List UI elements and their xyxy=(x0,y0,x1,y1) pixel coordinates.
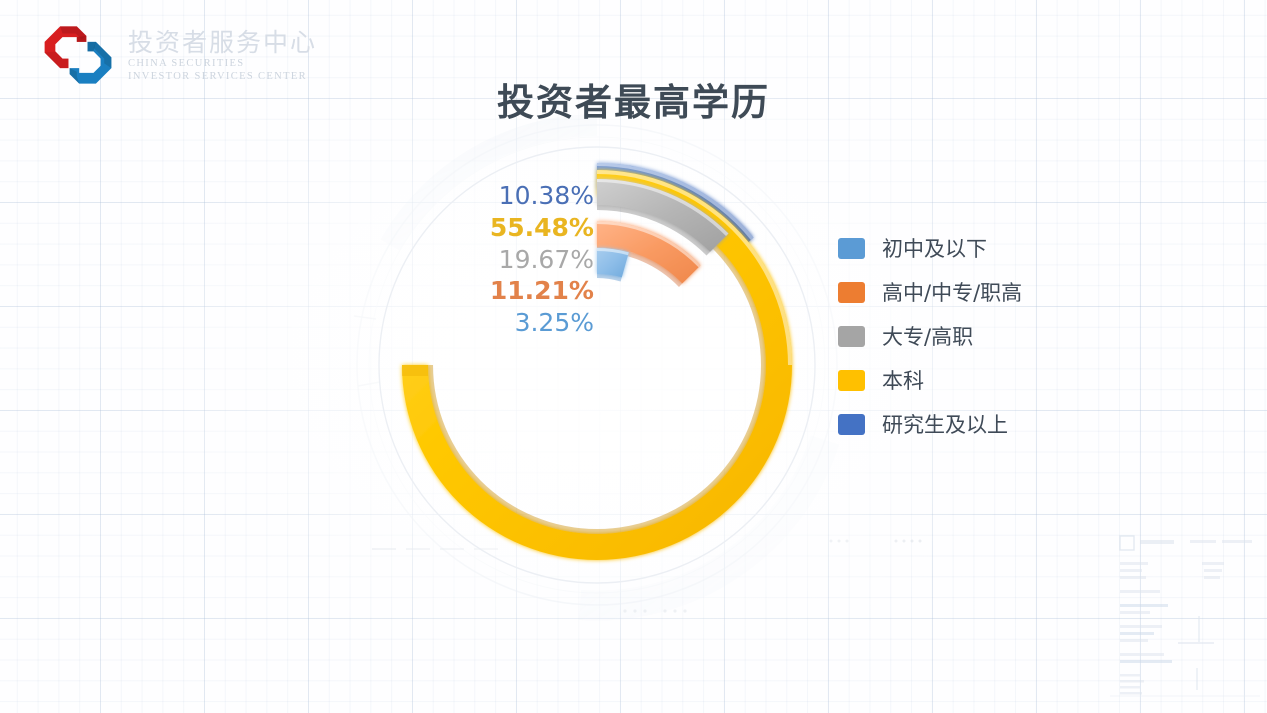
chart-legend: 初中及以下 高中/中专/职高 大专/高职 本科 研究生及以上 xyxy=(838,226,1022,446)
brand-name-en-line1: CHINA SECURITIES xyxy=(128,57,317,70)
legend-swatch-highschool xyxy=(838,282,865,303)
radial-bar-chart-svg xyxy=(352,118,852,618)
value-label-graduate: 10.38% xyxy=(442,180,594,212)
value-label-group: 10.38% 55.48% 19.67% 11.21% 3.25% xyxy=(442,180,594,339)
legend-label-graduate: 研究生及以上 xyxy=(882,409,1008,439)
brand-name-cn: 投资者服务中心 xyxy=(128,30,317,56)
value-label-middleschool: 3.25% xyxy=(442,307,594,339)
legend-swatch-college xyxy=(838,326,865,347)
legend-label-college: 大专/高职 xyxy=(882,321,973,351)
legend-swatch-graduate xyxy=(838,414,865,435)
legend-label-highschool: 高中/中专/职高 xyxy=(882,277,1022,307)
legend-swatch-middleschool xyxy=(838,238,865,259)
legend-item-bachelor[interactable]: 本科 xyxy=(838,358,1022,402)
legend-item-graduate[interactable]: 研究生及以上 xyxy=(838,402,1022,446)
value-label-highschool: 11.21% xyxy=(442,275,594,307)
radial-bar-chart xyxy=(352,118,852,618)
value-label-college: 19.67% xyxy=(442,244,594,276)
legend-label-middleschool: 初中及以下 xyxy=(882,233,987,263)
legend-swatch-bachelor xyxy=(838,370,865,391)
value-label-bachelor: 55.48% xyxy=(442,212,594,244)
legend-item-highschool[interactable]: 高中/中专/职高 xyxy=(838,270,1022,314)
legend-item-middleschool[interactable]: 初中及以下 xyxy=(838,226,1022,270)
legend-label-bachelor: 本科 xyxy=(882,365,924,395)
legend-item-college[interactable]: 大专/高职 xyxy=(838,314,1022,358)
radial-arc-middleschool xyxy=(597,248,629,282)
